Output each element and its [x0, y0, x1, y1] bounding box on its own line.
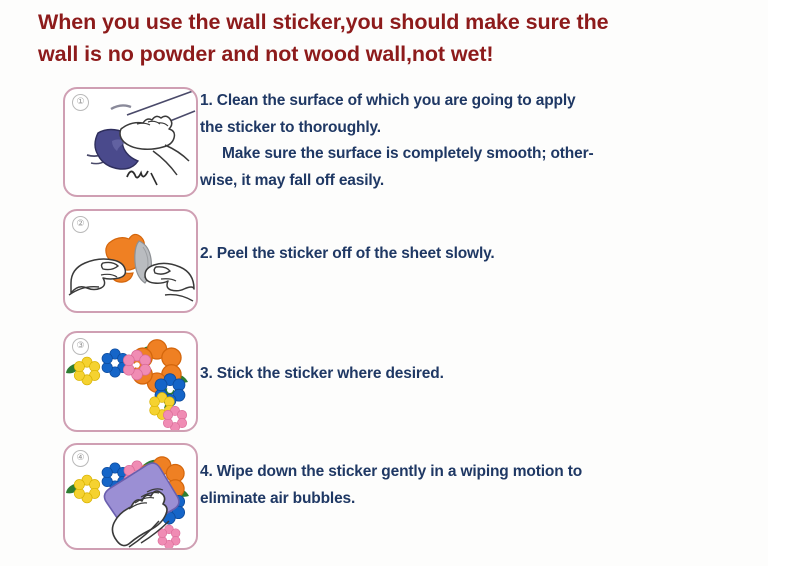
- step-3-illustration: ③: [63, 331, 198, 432]
- page-title: When you use the wall sticker,you should…: [38, 6, 738, 70]
- step-4-badge: ④: [72, 450, 89, 467]
- step-1-badge: ①: [72, 94, 89, 111]
- step-1-line-3: Make sure the surface is completely smoo…: [200, 141, 594, 168]
- step-2-illustration: ②: [63, 209, 198, 313]
- step-3-line-1: 3. Stick the sticker where desired.: [200, 361, 444, 388]
- step-3-text: 3. Stick the sticker where desired.: [200, 361, 444, 388]
- step-1-line-1: 1. Clean the surface of which you are go…: [200, 88, 594, 115]
- step-2-text: 2. Peel the sticker off of the sheet slo…: [200, 241, 495, 268]
- step-4-line-1: 4. Wipe down the sticker gently in a wip…: [200, 459, 582, 486]
- page-title-line-1: When you use the wall sticker,you should…: [38, 6, 738, 38]
- step-1-line-2: the sticker to thoroughly.: [200, 115, 594, 142]
- step-1-illustration: ①: [63, 87, 198, 197]
- step-4-line-2: eliminate air bubbles.: [200, 486, 582, 513]
- step-2-line-1: 2. Peel the sticker off of the sheet slo…: [200, 241, 495, 268]
- step-4-illustration: ④: [63, 443, 198, 550]
- step-3-badge: ③: [72, 338, 89, 355]
- step-1-text: 1. Clean the surface of which you are go…: [200, 88, 594, 194]
- step-1-line-4: wise, it may fall off easily.: [200, 168, 594, 195]
- page-title-line-2: wall is no powder and not wood wall,not …: [38, 38, 738, 70]
- step-2-badge: ②: [72, 216, 89, 233]
- instruction-graphic-page: When you use the wall sticker,you should…: [0, 0, 800, 566]
- step-4-text: 4. Wipe down the sticker gently in a wip…: [200, 459, 582, 512]
